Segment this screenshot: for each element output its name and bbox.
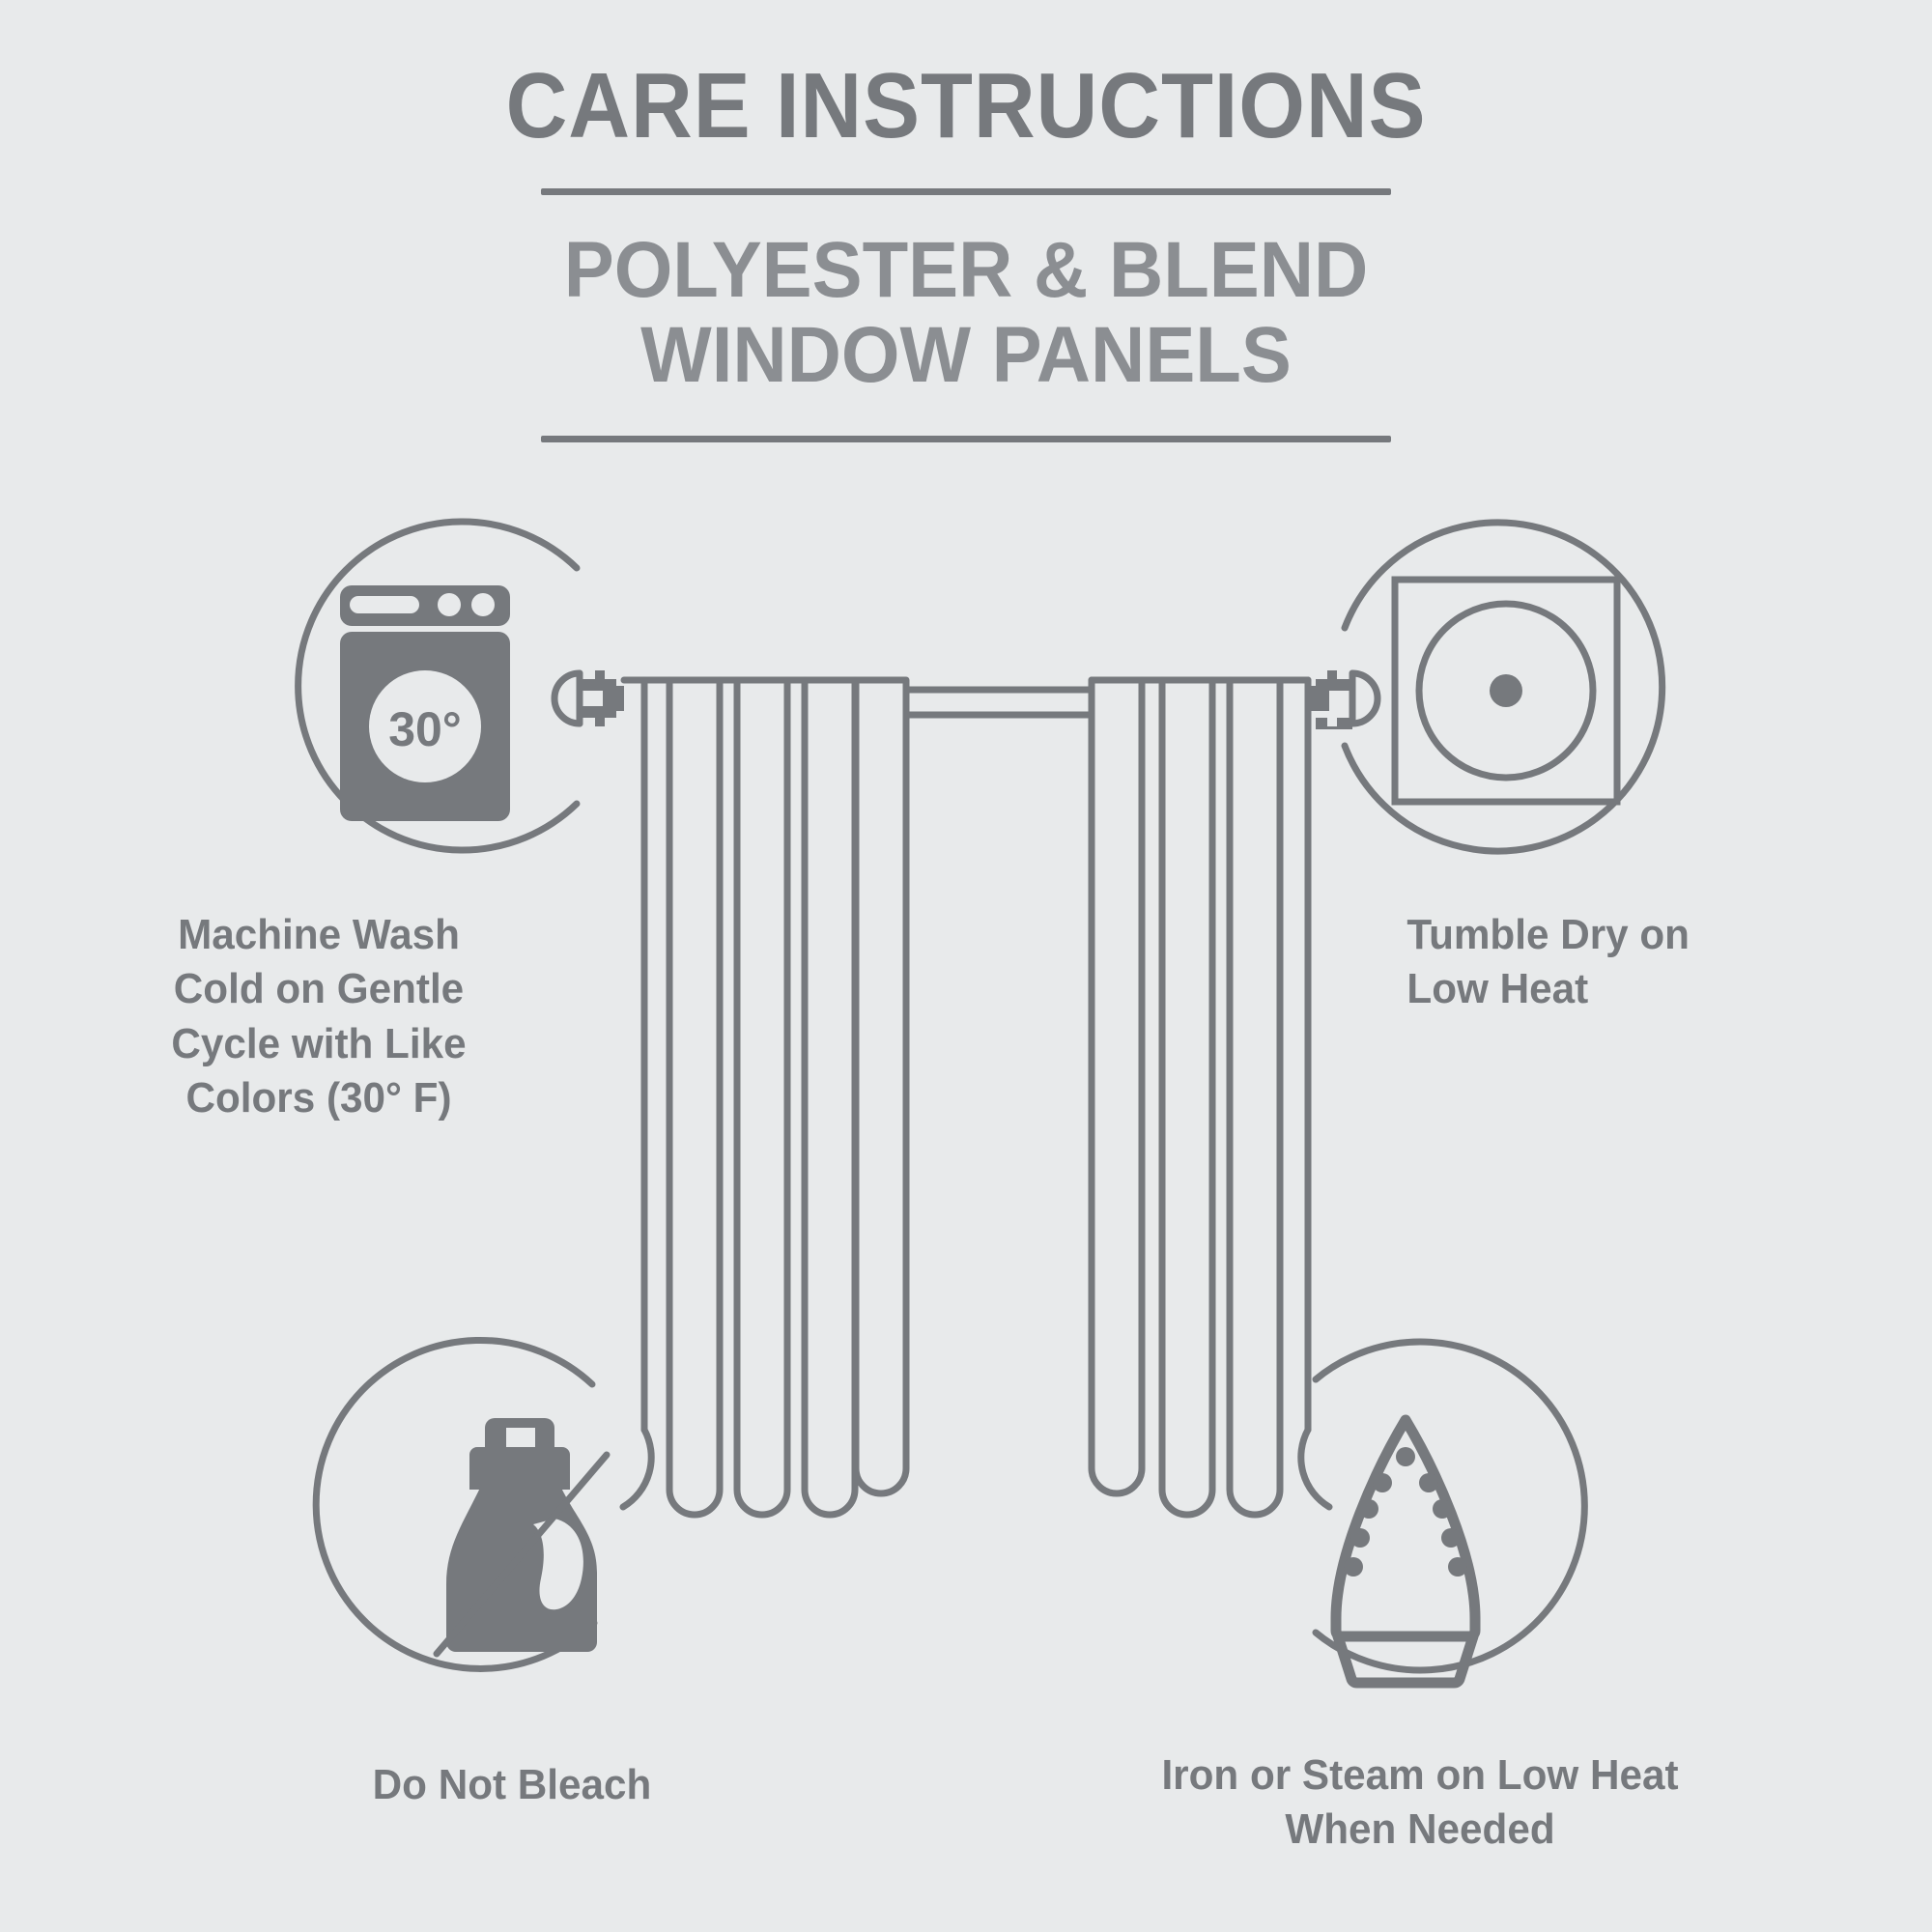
rod-finial-right [1308,670,1378,729]
bleach-bottle-icon [437,1418,607,1654]
curtain-illustration [554,670,1378,1515]
curtain-panel-right [1092,680,1329,1515]
care-instructions-card: CARE INSTRUCTIONS POLYESTER & BLEND WIND… [0,0,1932,1932]
caption-tumble-dry: Tumble Dry on Low Heat [1406,908,1796,1017]
caption-line: When Needed [1059,1803,1782,1857]
tumble-dry-symbol [1345,523,1662,851]
caption-line: Iron or Steam on Low Heat [1059,1748,1782,1803]
caption-do-not-bleach: Do Not Bleach [252,1758,772,1812]
wash-temperature-badge: 30° [388,702,462,756]
iron-symbol [1316,1342,1584,1683]
caption-line: Machine Wash [105,908,532,962]
caption-machine-wash: Machine Wash Cold on Gentle Cycle with L… [105,908,532,1125]
steam-holes [1344,1447,1467,1577]
curtain-rod [906,690,1092,715]
curtain-panel-left [623,680,906,1515]
caption-line: Cycle with Like [105,1017,532,1071]
no-bleach-symbol [316,1340,607,1668]
caption-iron: Iron or Steam on Low Heat When Needed [1059,1748,1782,1858]
washing-machine-icon: 30° [340,585,510,821]
rod-finial-left [554,670,624,726]
caption-line: Colors (30° F) [105,1071,532,1125]
caption-line: Cold on Gentle [105,962,532,1016]
caption-line: Do Not Bleach [252,1758,772,1812]
caption-line: Low Heat [1406,962,1796,1016]
caption-line: Tumble Dry on [1406,908,1796,962]
iron-icon [1336,1420,1475,1683]
tumble-dry-icon [1395,580,1617,802]
